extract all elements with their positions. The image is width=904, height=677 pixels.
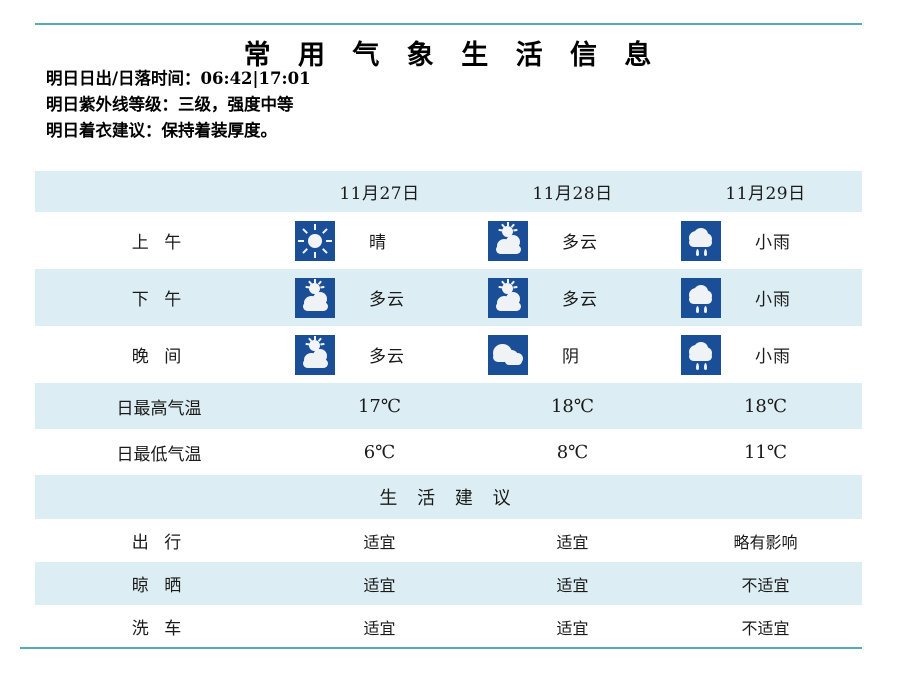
partly-cloudy-icon	[488, 278, 528, 318]
table-row-travel: 出 行 适宜 适宜 略有影响	[35, 519, 862, 562]
travel-advice-day1: 适宜	[283, 519, 476, 562]
car-wash-advice-day3: 不适宜	[669, 605, 862, 648]
row-label-evening: 晚 间	[35, 326, 283, 383]
high-temp-day1: 17℃	[283, 383, 476, 429]
high-temp-day3: 18℃	[669, 383, 862, 429]
weather-cell-afternoon-day1: 多云	[283, 269, 476, 326]
day-header-1: 11月27日	[283, 171, 476, 212]
table-row-evening: 晚 间 多云	[35, 326, 862, 383]
weather-cell-morning-day2: 多云	[476, 212, 669, 269]
weather-label-afternoon-day1: 多云	[369, 285, 405, 310]
clothing-advice-line: 明日着衣建议：保持着装厚度。	[46, 118, 311, 144]
sunny-icon	[295, 221, 335, 261]
high-temp-day2: 18℃	[476, 383, 669, 429]
light-rain-icon	[681, 278, 721, 318]
light-rain-icon	[681, 221, 721, 261]
weather-label-afternoon-day2: 多云	[562, 285, 598, 310]
table-row-low-temp: 日最低气温 6℃ 8℃ 11℃	[35, 429, 862, 475]
table-row-morning: 上 午 晴	[35, 212, 862, 269]
weather-info-page: 常 用 气 象 生 活 信 息 明日日出/日落时间：06:42|17:01 明日…	[0, 0, 904, 677]
partly-cloudy-icon	[295, 335, 335, 375]
table-header-row: 11月27日 11月28日 11月29日	[35, 171, 862, 212]
table-row-drying: 晾 晒 适宜 适宜 不适宜	[35, 562, 862, 605]
low-temp-day3: 11℃	[669, 429, 862, 475]
day-header-2: 11月28日	[476, 171, 669, 212]
table-row-high-temp: 日最高气温 17℃ 18℃ 18℃	[35, 383, 862, 429]
weather-cell-morning-day3: 小雨	[669, 212, 862, 269]
weather-label-morning-day3: 小雨	[755, 228, 791, 253]
car-wash-advice-day2: 适宜	[476, 605, 669, 648]
row-label-drying: 晾 晒	[35, 562, 283, 605]
partly-cloudy-icon	[488, 221, 528, 261]
low-temp-day1: 6℃	[283, 429, 476, 475]
weather-label-evening-day2: 阴	[562, 342, 580, 367]
weather-label-evening-day1: 多云	[369, 342, 405, 367]
bottom-divider	[20, 647, 862, 649]
weather-label-afternoon-day3: 小雨	[755, 285, 791, 310]
low-temp-day2: 8℃	[476, 429, 669, 475]
drying-advice-day3: 不适宜	[669, 562, 862, 605]
uv-index-line: 明日紫外线等级：三级，强度中等	[46, 92, 311, 118]
weather-label-morning-day2: 多云	[562, 228, 598, 253]
forecast-table: 11月27日 11月28日 11月29日 上 午	[35, 171, 862, 648]
weather-label-evening-day3: 小雨	[755, 342, 791, 367]
drying-advice-day2: 适宜	[476, 562, 669, 605]
weather-cell-morning-day1: 晴	[283, 212, 476, 269]
row-label-travel: 出 行	[35, 519, 283, 562]
top-divider	[35, 23, 862, 25]
weather-cell-evening-day3: 小雨	[669, 326, 862, 383]
car-wash-advice-day1: 适宜	[283, 605, 476, 648]
weather-cell-evening-day2: 阴	[476, 326, 669, 383]
weather-cell-afternoon-day3: 小雨	[669, 269, 862, 326]
overcast-icon	[488, 335, 528, 375]
partly-cloudy-icon	[295, 278, 335, 318]
summary-info-block: 明日日出/日落时间：06:42|17:01 明日紫外线等级：三级，强度中等 明日…	[46, 66, 311, 144]
row-label-afternoon: 下 午	[35, 269, 283, 326]
life-advice-section-header: 生 活 建 议	[35, 475, 862, 519]
row-label-morning: 上 午	[35, 212, 283, 269]
weather-cell-afternoon-day2: 多云	[476, 269, 669, 326]
table-row-car-wash: 洗 车 适宜 适宜 不适宜	[35, 605, 862, 648]
life-advice-section-title: 生 活 建 议	[35, 475, 862, 519]
sunrise-sunset-line: 明日日出/日落时间：06:42|17:01	[46, 66, 311, 92]
day-header-3: 11月29日	[669, 171, 862, 212]
travel-advice-day3: 略有影响	[669, 519, 862, 562]
drying-advice-day1: 适宜	[283, 562, 476, 605]
row-label-high-temp: 日最高气温	[35, 383, 283, 429]
table-row-afternoon: 下 午 多云	[35, 269, 862, 326]
weather-cell-evening-day1: 多云	[283, 326, 476, 383]
travel-advice-day2: 适宜	[476, 519, 669, 562]
row-label-car-wash: 洗 车	[35, 605, 283, 648]
header-corner-cell	[35, 171, 283, 212]
light-rain-icon	[681, 335, 721, 375]
weather-label-morning-day1: 晴	[369, 228, 387, 253]
row-label-low-temp: 日最低气温	[35, 429, 283, 475]
